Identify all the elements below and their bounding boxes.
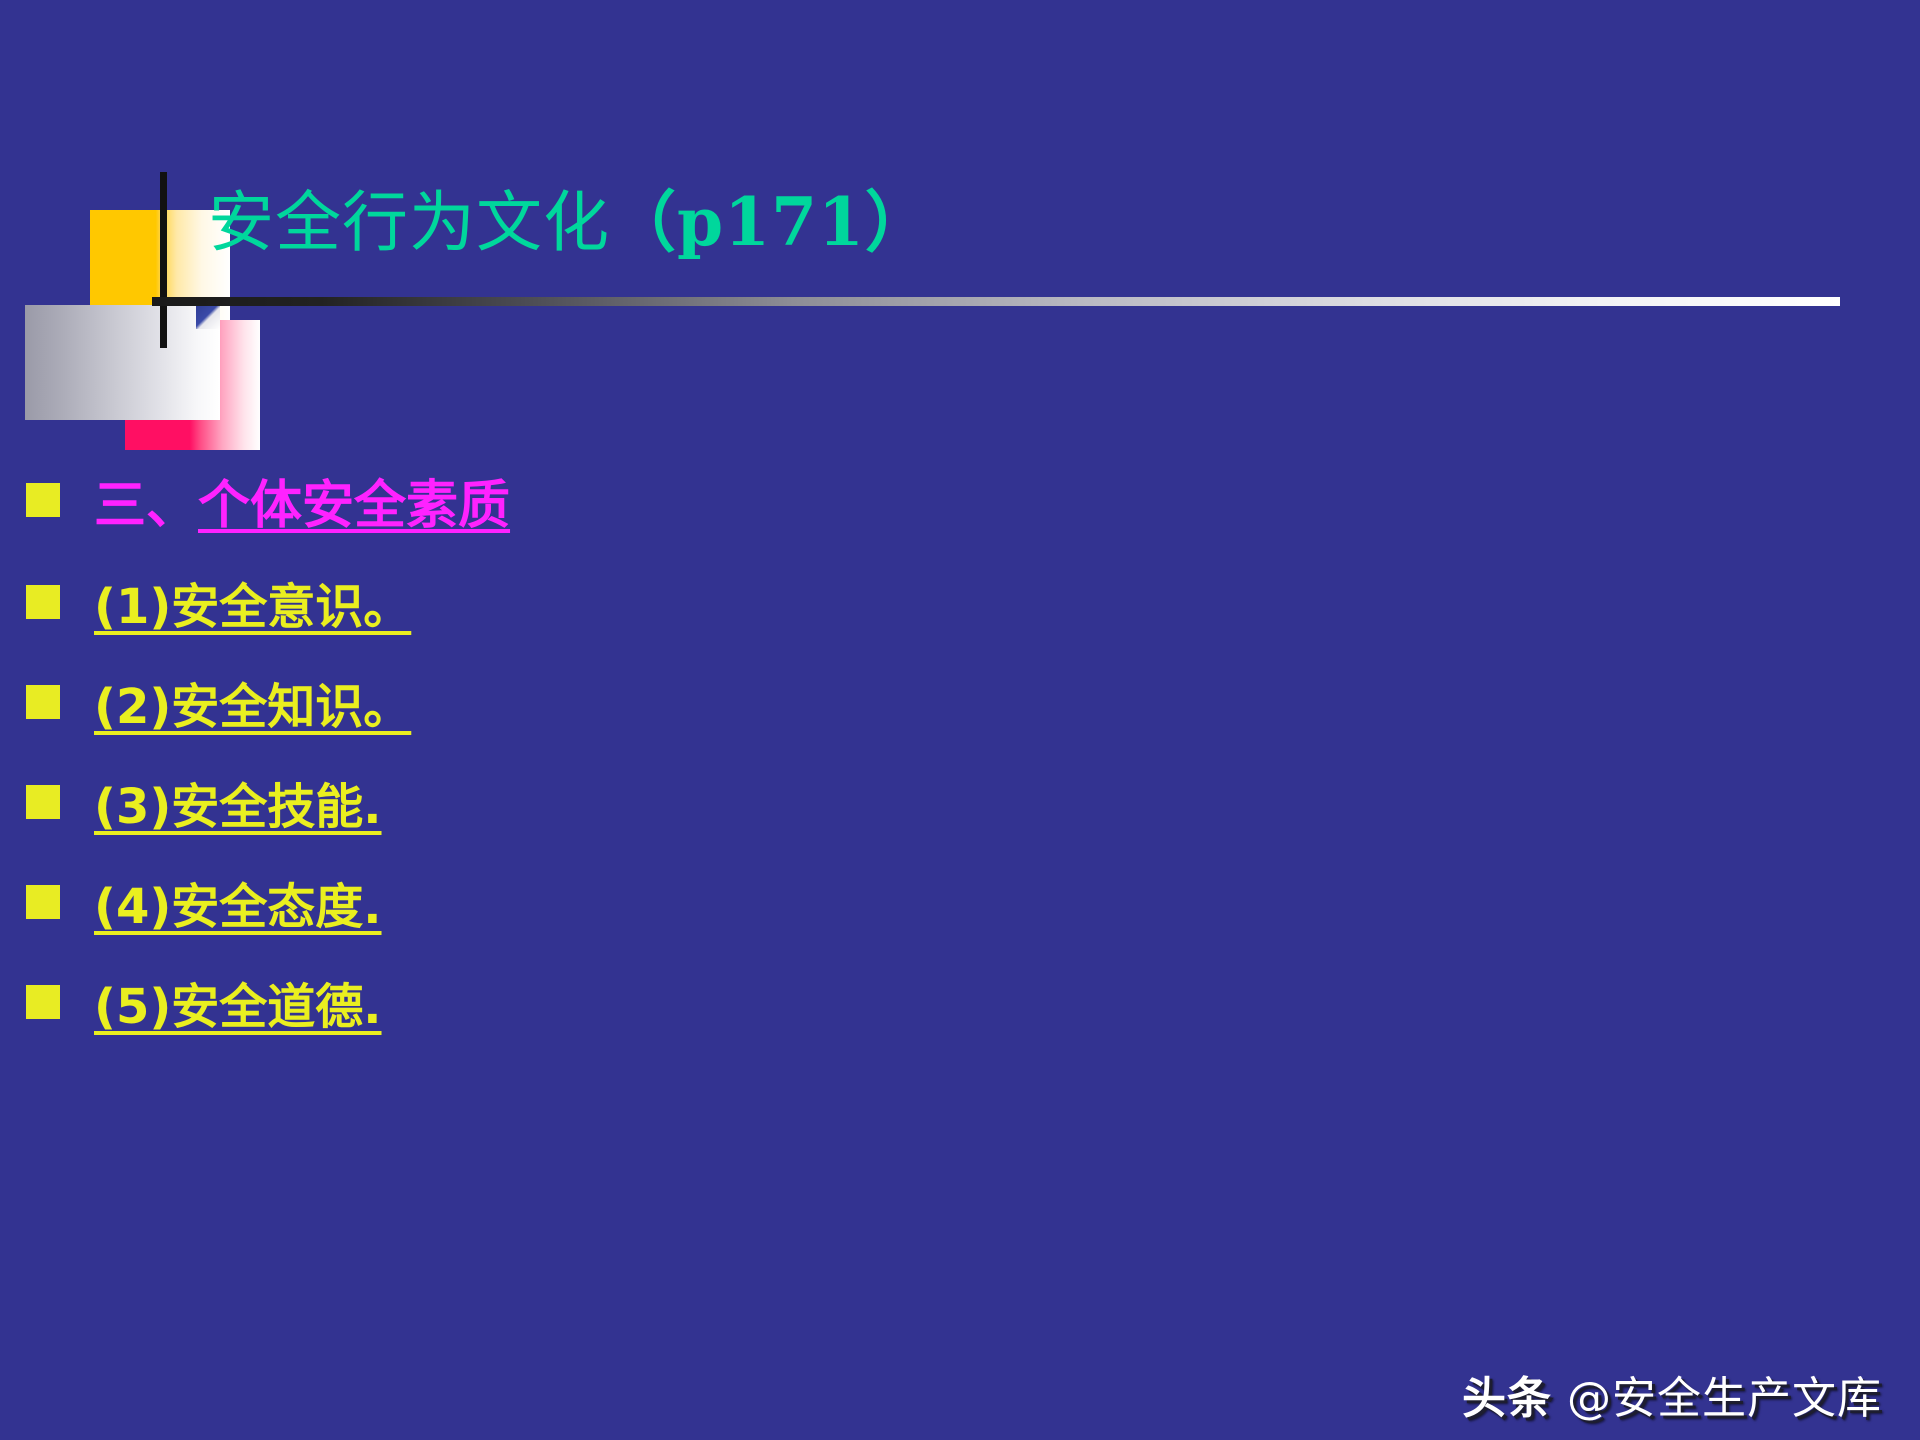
deco-pink-block	[125, 320, 260, 450]
bullet-list: 三、个体安全素质 (1)安全意识。 (2)安全知识。 (3)安全技能. (4)安…	[0, 448, 1920, 1052]
list-item-link[interactable]: (5)安全道德.	[94, 979, 382, 1035]
list-item[interactable]: 三、个体安全素质	[0, 448, 1920, 552]
list-item[interactable]: (1)安全意识。	[0, 552, 1920, 652]
list-item-link[interactable]: 个体安全素质	[198, 476, 510, 536]
square-bullet-icon	[26, 685, 60, 719]
list-item-label: (3)安全技能.	[94, 767, 382, 837]
deco-vertical-line	[160, 172, 167, 348]
list-item-link[interactable]: (2)安全知识。	[94, 679, 411, 735]
list-item[interactable]: (4)安全态度.	[0, 852, 1920, 952]
list-item[interactable]: (3)安全技能.	[0, 752, 1920, 852]
list-item-link[interactable]: (4)安全态度.	[94, 879, 382, 935]
square-bullet-icon	[26, 885, 60, 919]
watermark: 头条 @安全生产文库	[1462, 1362, 1882, 1426]
slide-canvas: 安全行为文化（p171） 三、个体安全素质 (1)安全意识。 (2)安全知识。 …	[0, 0, 1920, 1440]
list-item-prefix: 三、	[94, 476, 198, 536]
title-horizontal-rule	[152, 297, 1840, 306]
list-item-label: 三、个体安全素质	[94, 463, 510, 538]
slide-title-main: 安全行为文化	[208, 184, 610, 261]
watermark-handle: @安全生产文库	[1567, 1373, 1882, 1424]
slide-title-page-ref: （p171）	[610, 183, 932, 261]
square-bullet-icon	[26, 585, 60, 619]
list-item-label: (4)安全态度.	[94, 867, 382, 937]
square-bullet-icon	[26, 483, 60, 517]
list-item-label: (2)安全知识。	[94, 667, 411, 737]
deco-gray-block	[25, 305, 220, 420]
list-item-label: (1)安全意识。	[94, 567, 411, 637]
list-item-link[interactable]: (3)安全技能.	[94, 779, 382, 835]
list-item-label: (5)安全道德.	[94, 967, 382, 1037]
deco-gray-block-corner	[196, 305, 220, 329]
slide-title: 安全行为文化（p171）	[208, 186, 932, 260]
list-item-link[interactable]: (1)安全意识。	[94, 579, 411, 635]
square-bullet-icon	[26, 785, 60, 819]
list-item[interactable]: (2)安全知识。	[0, 652, 1920, 752]
list-item[interactable]: (5)安全道德.	[0, 952, 1920, 1052]
square-bullet-icon	[26, 985, 60, 1019]
watermark-brand: 头条	[1462, 1373, 1552, 1424]
